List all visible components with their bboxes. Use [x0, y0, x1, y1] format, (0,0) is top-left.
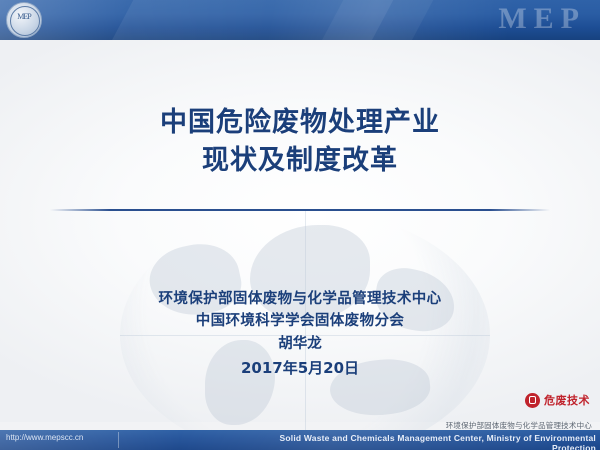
emblem-ring — [10, 6, 40, 36]
organization-line-2: 中国环境科学学会固体废物分会 — [0, 310, 600, 332]
page-title: 中国危险废物处理产业 现状及制度改革 — [0, 104, 600, 180]
author-name: 胡华龙 — [0, 332, 600, 356]
presentation-slide: MEP MEP 中国危险废物处理产业 现状及制度改革 环境保护部固体废物与化学品… — [0, 0, 600, 450]
presentation-date: 2017年5月20日 — [0, 356, 600, 380]
shield-icon — [525, 393, 540, 408]
ministry-emblem-icon: MEP — [6, 2, 42, 38]
organization-line-1: 环境保护部固体废物与化学品管理技术中心 — [0, 288, 600, 310]
author-block: 环境保护部固体废物与化学品管理技术中心 中国环境科学学会固体废物分会 胡华龙 2… — [0, 288, 600, 380]
footer-bar: http://www.mepscc.cn Solid Waste and Che… — [0, 430, 600, 450]
title-line-2: 现状及制度改革 — [0, 142, 600, 180]
footer-english-caption: Solid Waste and Chemicals Management Cen… — [250, 433, 596, 450]
title-line-1: 中国危险废物处理产业 — [0, 104, 600, 142]
watermark-label: 危废技术 — [544, 392, 590, 408]
title-divider — [50, 209, 550, 211]
footer-separator — [118, 432, 119, 448]
footer-url-link[interactable]: http://www.mepscc.cn — [6, 433, 83, 442]
top-banner: MEP MEP — [0, 0, 600, 40]
mep-watermark-text: MEP — [498, 2, 586, 36]
emblem-glyph: MEP — [7, 12, 41, 21]
watermark-badge: 危废技术 — [525, 392, 590, 408]
